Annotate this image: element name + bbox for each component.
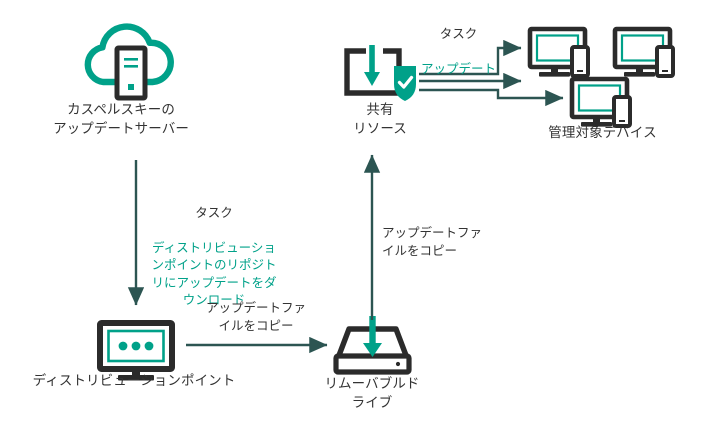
device2-base — [624, 72, 655, 77]
node-label-update-server: カスペルスキーの アップデートサーバー — [6, 100, 236, 138]
node-label-removable-drive: リムーバブルド ライブ — [292, 374, 452, 412]
edge-label-task-download-detail: ディストリビューショ ンポイントのリポジト リにアップデートをダ ウンロード — [124, 240, 304, 310]
server-vent-2 — [124, 65, 138, 68]
device1-phone-button — [577, 70, 583, 72]
server-led — [128, 84, 134, 90]
cloud-server-icon — [88, 27, 171, 98]
monitor-phone-icon — [615, 29, 673, 77]
monitor-dot-1 — [119, 342, 128, 351]
edge-label-task-update: タスク アップデート — [401, 8, 516, 96]
node-label-managed-devices: 管理対象デバイス — [510, 123, 695, 142]
device2-phone-button — [662, 70, 668, 72]
monitor-dot-2 — [132, 342, 141, 351]
monitor-phone-icon — [572, 79, 630, 127]
node-managed-devices — [530, 29, 673, 127]
edge-label-copy-to-drive: アップデートファ イルをコピー — [186, 300, 326, 335]
edge-label-task-update-detail: アップデート — [401, 61, 516, 79]
monitor-phone-icon — [530, 29, 588, 77]
node-update-server — [88, 27, 171, 98]
device1-base — [539, 72, 570, 77]
monitor-dot-3 — [145, 342, 154, 351]
folder-arrow-head — [364, 72, 380, 86]
edge-label-copy-to-shared: アップデートファ イルをコピー — [382, 225, 502, 260]
node-removable-drive — [336, 316, 409, 372]
server-tower — [117, 48, 145, 98]
node-label-distribution-point: ディストリビューションポイント — [0, 371, 274, 390]
removable-drive-download-icon — [336, 316, 409, 372]
server-vent-1 — [124, 58, 138, 61]
node-label-shared-resource: 共有 リソース — [325, 100, 435, 138]
device3-phone-button — [619, 120, 625, 122]
edge-label-task-update-title: タスク — [401, 26, 516, 44]
edge-label-task-download-title: タスク — [124, 205, 304, 223]
drive-led — [396, 362, 400, 366]
